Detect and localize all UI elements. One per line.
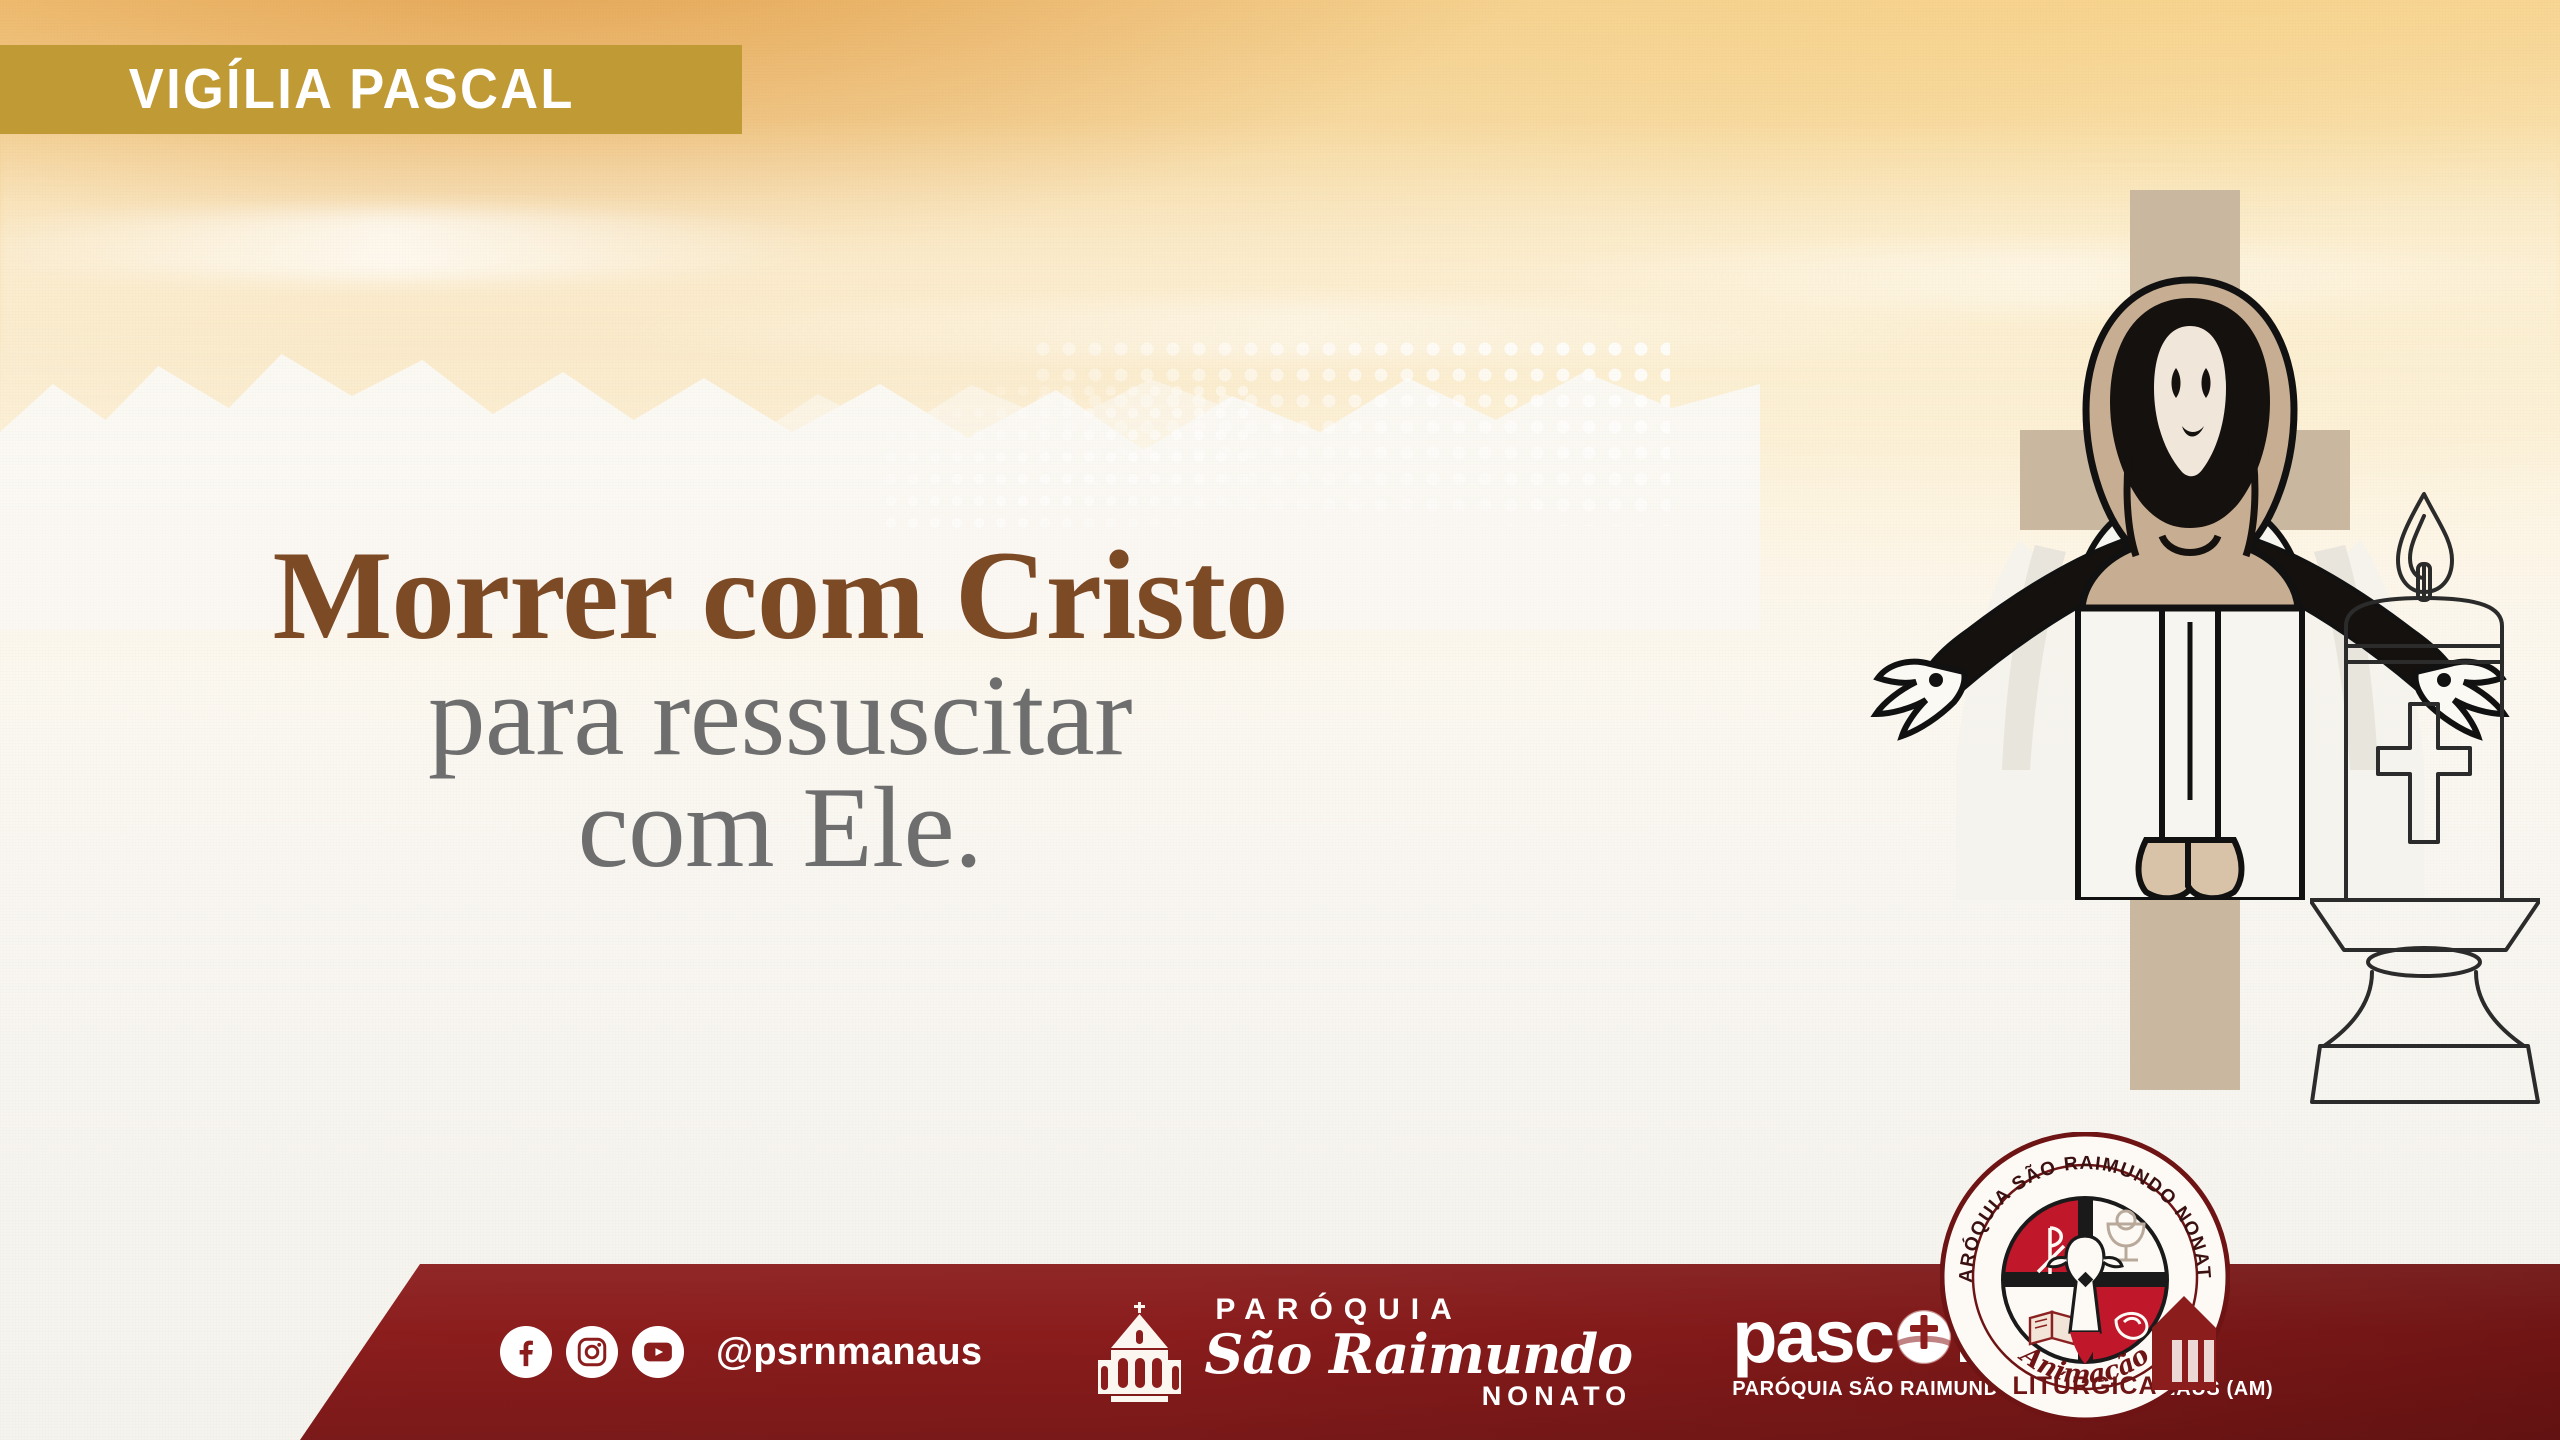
headline-line-1: Morrer com Cristo — [0, 530, 1560, 662]
kicker-band: VIGÍLIA PASCAL — [0, 45, 742, 134]
headline-line-3: com Ele. — [0, 768, 1560, 888]
book-icon — [2030, 1312, 2074, 1344]
seal-arc-bottom-caps: LITÚRGICA — [2012, 1370, 2157, 1400]
facebook-icon[interactable] — [500, 1326, 552, 1378]
headline-line-2: para ressuscitar — [0, 656, 1560, 776]
easter-vigil-banner: VIGÍLIA PASCAL Morrer com Cristo para re… — [0, 0, 2560, 1440]
paschal-candle-icon — [2310, 480, 2540, 1120]
parish-label-top: PARÓQUIA — [1204, 1295, 1632, 1325]
church-icon — [1092, 1300, 1188, 1404]
liturgical-seal-badge[interactable]: PARÓQUIA SÃO RAIMUNDO NONATO — [1940, 1132, 2230, 1422]
parish-label-bottom: NONATO — [1476, 1383, 1633, 1410]
artwork-group — [1840, 0, 2560, 1160]
youtube-icon[interactable] — [632, 1326, 684, 1378]
instagram-icon[interactable] — [566, 1326, 618, 1378]
headline-block: Morrer com Cristo para ressuscitar com E… — [0, 530, 1680, 887]
social-links: @psrnmanaus — [500, 1326, 982, 1378]
kicker-label: VIGÍLIA PASCAL — [0, 61, 575, 118]
footer: @psrnmanaus — [0, 1250, 2560, 1440]
pascom-word-before: pasc — [1732, 1303, 1893, 1371]
parish-logo: PARÓQUIA São Raimundo NONATO — [1092, 1295, 1632, 1410]
parish-label-script: São Raimundo — [1204, 1327, 1632, 1381]
social-handle: @psrnmanaus — [716, 1331, 982, 1374]
